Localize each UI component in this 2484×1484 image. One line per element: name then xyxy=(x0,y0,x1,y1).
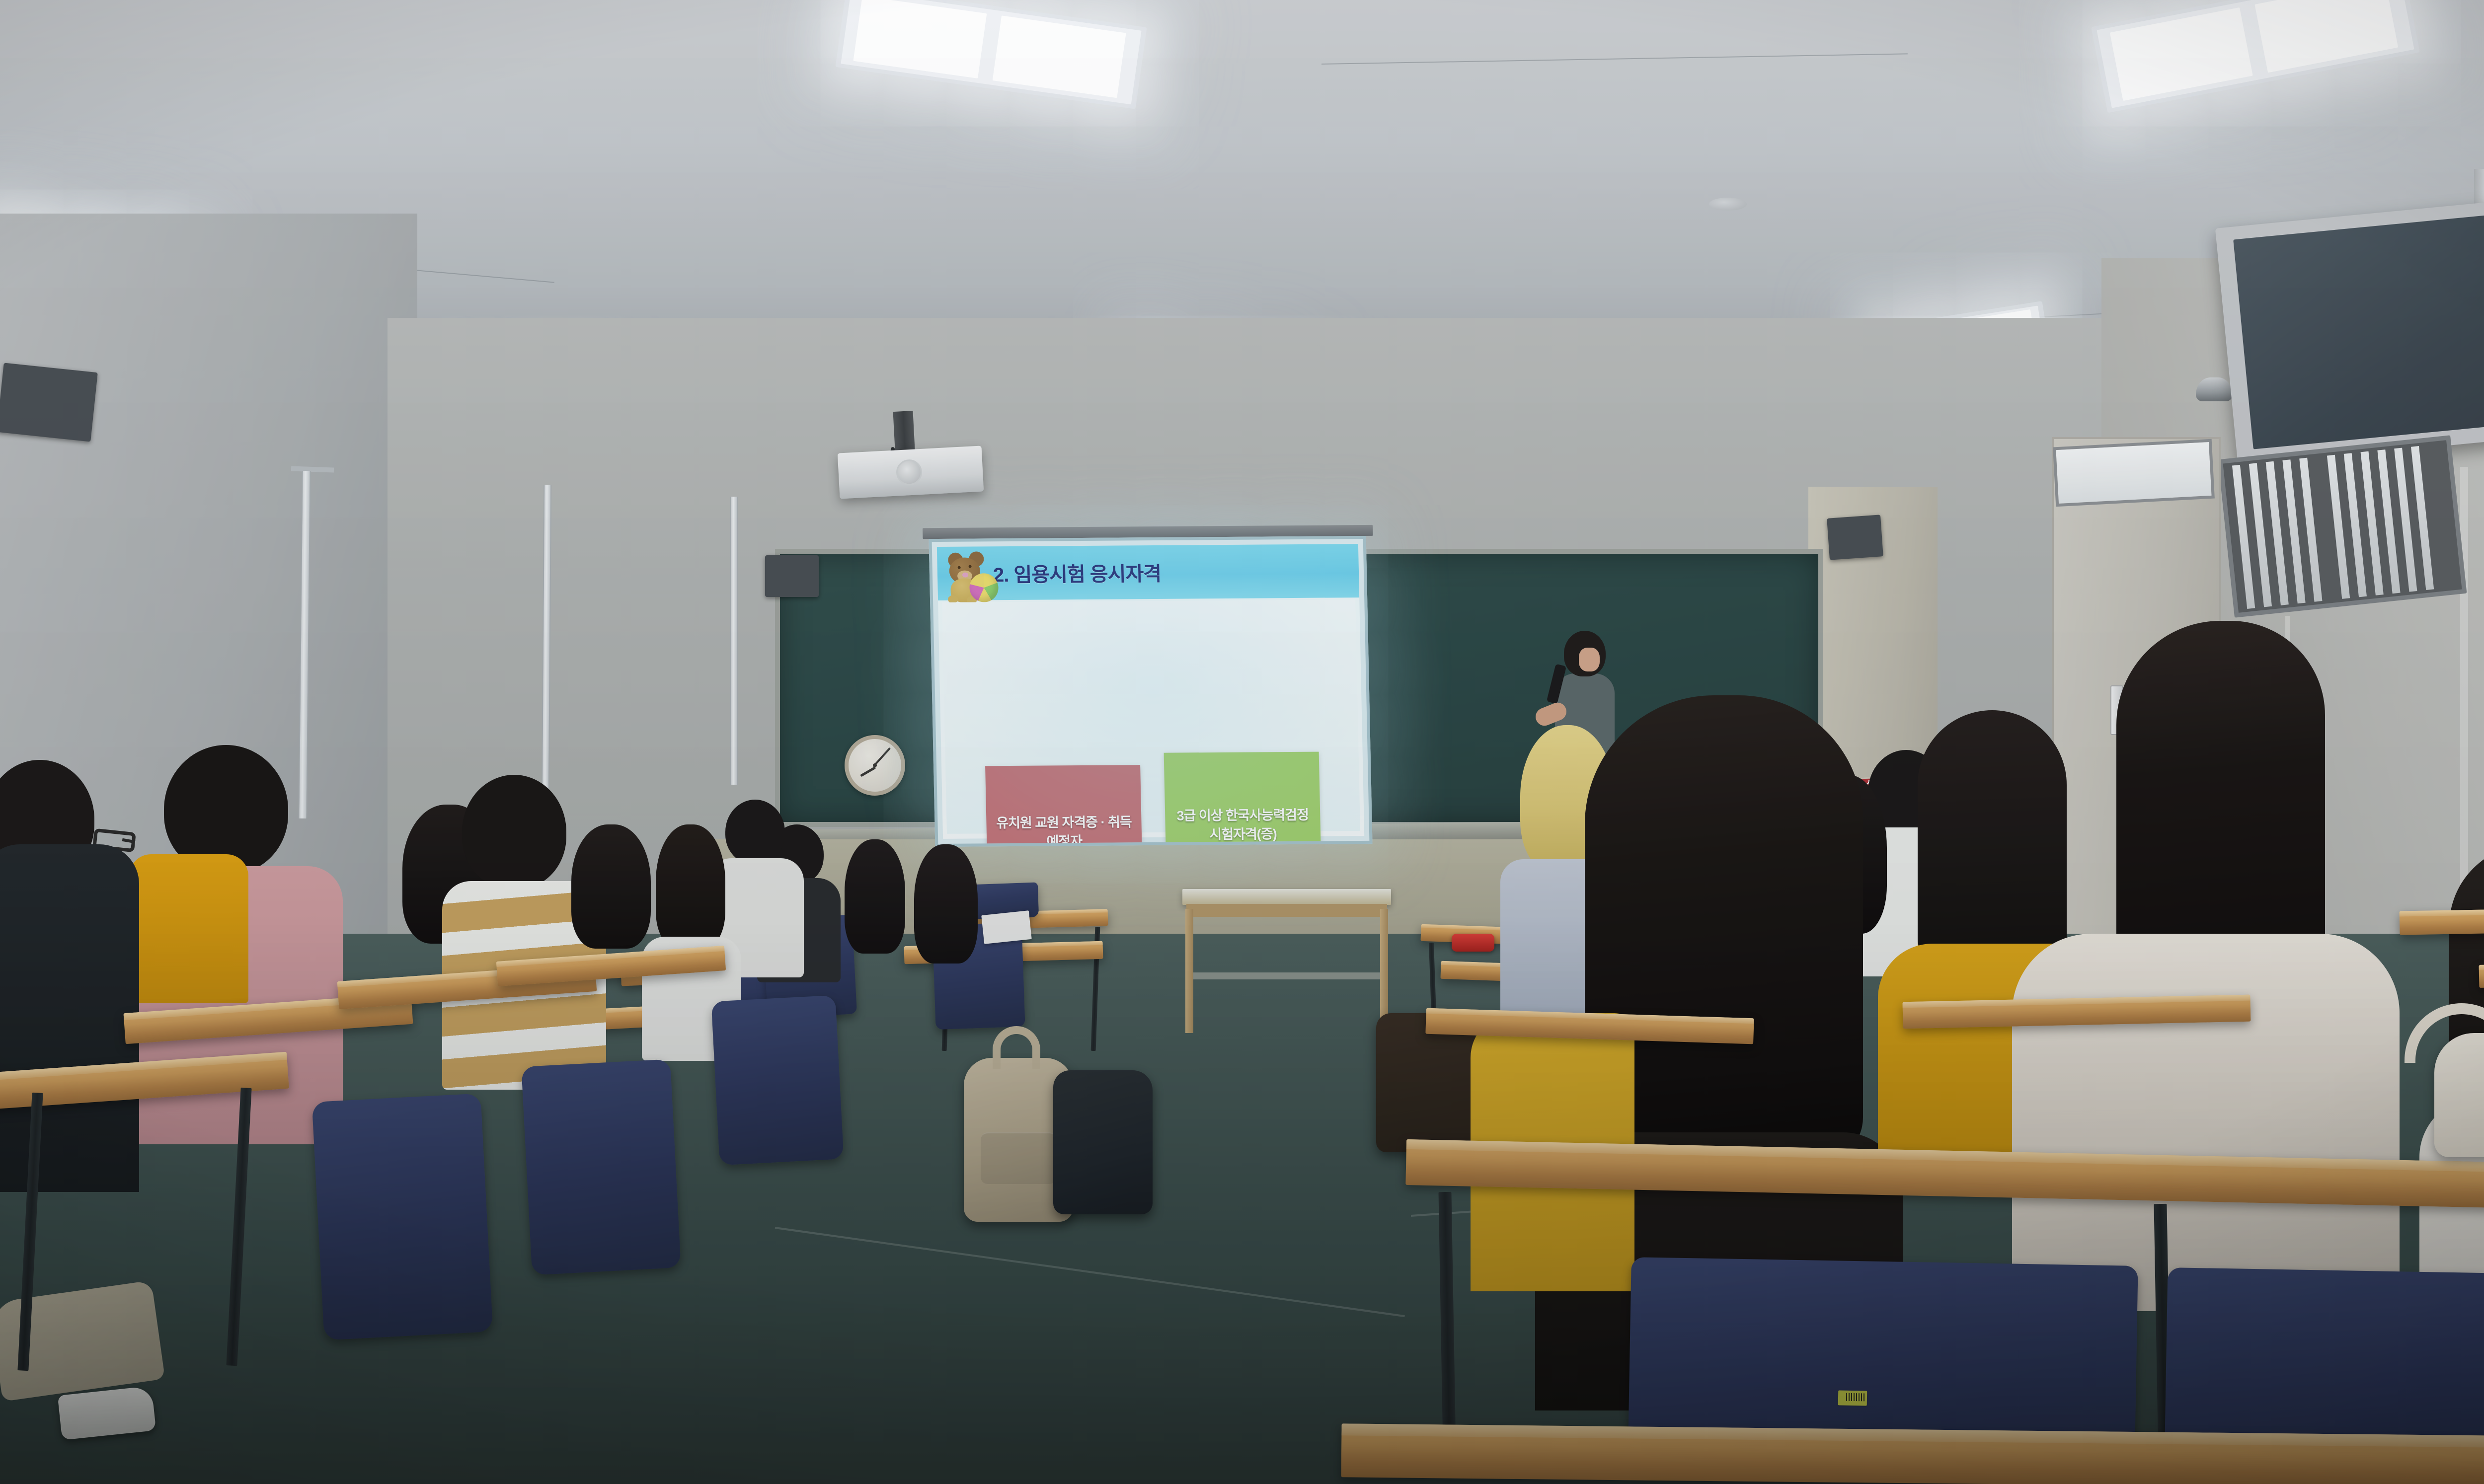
ventilation-louvre xyxy=(2218,435,2467,617)
slide-box-row: 유치원 교원 자격증 · 취득 예정자 3급 이상 한국사능력검정시험자격(증) xyxy=(945,763,1362,847)
red-object-on-desk xyxy=(1452,934,1494,952)
door-transom-window xyxy=(2053,439,2215,507)
presentation-slide: 2. 임용시험 응시자격 유치원 교원 자격증 · 취득 예정자 3급 이상 한… xyxy=(937,544,1364,839)
wall-speaker xyxy=(1827,515,1883,560)
dome-security-camera-icon xyxy=(2196,377,2233,401)
classroom-photo-scene: 소화기 2. 임용시험 응시자격 xyxy=(0,0,2484,1484)
projector-lens-icon xyxy=(896,459,923,486)
window-blind[interactable] xyxy=(730,497,738,785)
chair[interactable] xyxy=(711,995,844,1166)
beach-ball-icon xyxy=(969,573,999,602)
qualification-box-green: 3급 이상 한국사능력검정시험자격(증) xyxy=(1164,752,1322,847)
paper-sheet xyxy=(981,910,1032,944)
slide-body: 유치원 교원 자격증 · 취득 예정자 3급 이상 한국사능력검정시험자격(증) xyxy=(942,599,1360,834)
wall-speaker xyxy=(0,363,98,442)
presenter-face xyxy=(1579,648,1600,671)
chair[interactable] xyxy=(312,1093,493,1340)
smoke-detector-icon xyxy=(1709,198,1747,211)
clock-hour-hand xyxy=(860,766,876,777)
desk xyxy=(2479,962,2484,988)
asset-barcode-sticker xyxy=(1838,1390,1867,1406)
screen-surface: 2. 임용시험 응시자격 유치원 교원 자격증 · 취득 예정자 3급 이상 한… xyxy=(929,536,1372,847)
projection-screen: 2. 임용시험 응시자격 유치원 교원 자격증 · 취득 예정자 3급 이상 한… xyxy=(929,536,1372,847)
qualification-box-red: 유치원 교원 자격증 · 취득 예정자 xyxy=(985,765,1143,847)
slide-header: 2. 임용시험 응시자격 xyxy=(937,544,1359,600)
ceiling-monitor xyxy=(2215,190,2484,465)
dark-backpack xyxy=(1053,1070,1153,1214)
slide-title: 2. 임용시험 응시자격 xyxy=(993,558,1161,588)
clock-center-pin xyxy=(873,763,877,767)
teddy-bear-icon xyxy=(944,550,999,606)
wall-clock xyxy=(845,735,905,796)
front-table xyxy=(1182,889,1391,1028)
desk xyxy=(2400,906,2484,935)
ceiling-projector xyxy=(838,445,984,499)
chair[interactable] xyxy=(521,1059,681,1275)
monitor-screen xyxy=(2233,204,2484,449)
wall-speaker xyxy=(765,555,819,597)
